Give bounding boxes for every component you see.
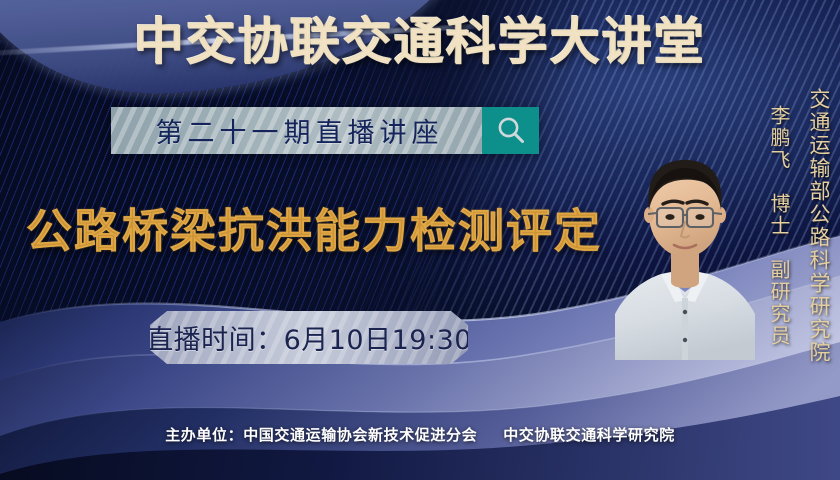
search-button[interactable] (482, 107, 539, 154)
speaker-name-title: 李鹏飞 博士 副研究员 (765, 105, 794, 347)
footer-organizer-secondary: 中交协联交通科学研究院 (503, 426, 675, 444)
episode-label: 第二十一期直播讲座 (150, 111, 444, 150)
speaker-portrait (615, 112, 755, 360)
search-input[interactable]: 第二十一期直播讲座 (111, 107, 482, 154)
page-title: 中交协联交通科学大讲堂 (0, 14, 840, 70)
speaker-organization: 交通运输部公路科学研究院 (804, 88, 834, 364)
search-icon (494, 114, 528, 148)
footer-organizer-primary: 主办单位：中国交通运输协会新技术促进分会 (165, 426, 477, 444)
broadcast-time-label: 直播时间：6月10日19:30 (150, 318, 468, 357)
lecture-headline: 公路桥梁抗洪能力检测评定 (26, 200, 602, 262)
livestream-poster: 中交协联交通科学大讲堂 第二十一期直播讲座 公路桥梁抗洪能力检测评定 直播时间：… (0, 0, 840, 480)
footer-organizers: 主办单位：中国交通运输协会新技术促进分会中交协联交通科学研究院 (0, 424, 840, 445)
broadcast-time-chip: 直播时间：6月10日19:30 (150, 311, 468, 364)
episode-search-bar[interactable]: 第二十一期直播讲座 (111, 107, 539, 154)
